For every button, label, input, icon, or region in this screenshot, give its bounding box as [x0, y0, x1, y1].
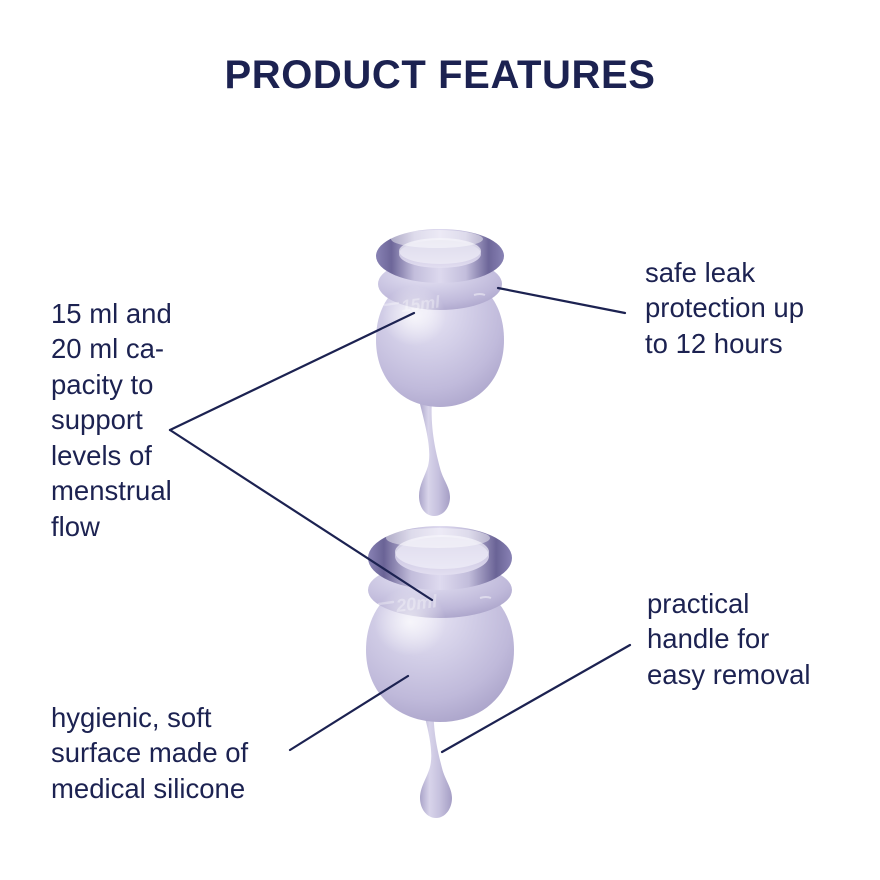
connector-handle-to-20ml: [442, 645, 630, 752]
connector-capacity-to-15ml: [170, 313, 414, 430]
connector-silicone-to-20ml: [290, 676, 408, 750]
product-features-infographic: PRODUCT FEATURES: [0, 0, 880, 880]
callout-lines: [0, 0, 880, 880]
connector-leak-to-15ml: [498, 288, 625, 313]
connector-capacity-to-20ml: [170, 430, 432, 600]
